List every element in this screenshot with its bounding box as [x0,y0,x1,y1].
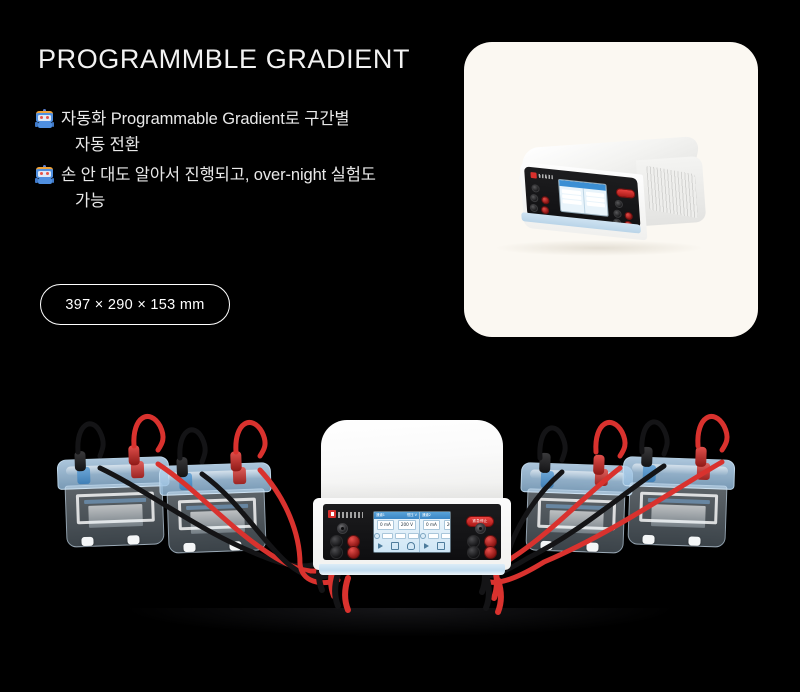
robot-icon [33,164,56,187]
channel-readouts: 0 mA 200 V [374,519,419,531]
ground-socket-right[interactable] [475,523,486,534]
slide-root: PROGRAMMBLE GRADIENT 자동화 Programmable Gr… [0,0,800,692]
play-icon[interactable] [378,543,383,549]
ground-socket-left[interactable] [337,523,348,534]
jack-positive-2[interactable] [347,546,360,559]
hero-jack-black-1 [530,194,539,203]
timer-readout [374,531,419,540]
bullet-text: 자동화 Programmable Gradient로 구간별 자동 전환 [61,106,350,158]
channel-readouts: 0 mA 200 V [420,519,451,531]
channel-mode-left: 通道2 [422,512,431,519]
bullet-line-2: 가능 [61,188,376,214]
channel-panel-2[interactable]: 通道2 恒压 V 0 mA 200 V [420,512,451,552]
hero-power-supply [513,135,715,248]
bullet-text: 손 안 대도 알아서 진행되고, over-night 실험도 가능 [61,162,376,214]
lcd-display: 通道1 恒压 V 0 mA 200 V [373,511,451,553]
base-strip [319,564,505,575]
hero-jack-red-3 [624,212,633,221]
list-item: 손 안 대도 알아서 진행되고, over-night 실험도 가능 [33,162,443,214]
jack-positive-4[interactable] [484,546,497,559]
bullet-line-1: 손 안 대도 알아서 진행되고, over-night 실험도 [61,166,376,184]
stop-icon[interactable] [437,542,445,550]
current-readout: 0 mA [377,520,394,530]
channel-header: 通道2 恒压 V [420,512,451,519]
jack-negative-4[interactable] [467,546,480,559]
power-supply-unit: 通道1 恒压 V 0 mA 200 V [313,420,511,580]
clock-icon [420,533,426,539]
channel-controls[interactable] [374,540,419,552]
channel-mode-right: 恒压 V [407,512,417,519]
control-panel: 通道1 恒压 V 0 mA 200 V [323,504,501,560]
hero-lcd-screen [558,179,609,217]
list-item: 자동화 Programmable Gradient로 구간별 자동 전환 [33,106,443,158]
channel-controls[interactable] [420,540,451,552]
dimension-badge: 397 × 290 × 153 mm [40,284,230,325]
brand-logo [530,172,553,180]
hero-jack-red-2 [541,206,550,215]
hero-stop-button [616,188,636,199]
channel-header: 通道1 恒压 V [374,512,419,519]
channel-mode-left: 通道1 [376,512,385,519]
lamp-icon[interactable] [407,542,415,550]
hero-jack-red-1 [541,196,550,205]
voltage-readout: 200 V [444,520,451,530]
jack-negative-2[interactable] [330,546,343,559]
play-icon[interactable] [424,543,429,549]
hero-jack-round-2 [615,200,624,209]
page-title: PROGRAMMBLE GRADIENT [38,44,410,75]
system-scene: 通道1 恒压 V 0 mA 200 V [0,372,800,692]
brand-logo [328,510,364,519]
vent-grille [646,166,698,218]
device-top-shell [321,420,503,504]
dimension-label: 397 × 290 × 153 mm [65,297,204,313]
bullet-line-1: 자동화 Programmable Gradient로 구간별 [61,110,350,128]
robot-icon [33,108,56,131]
bullet-line-2: 자동 전환 [61,132,350,158]
hero-jack-round [531,184,540,193]
feature-bullet-list: 자동화 Programmable Gradient로 구간별 자동 전환 손 [33,106,443,218]
hero-jack-black-3 [613,209,622,218]
hero-jack-black-2 [530,204,539,213]
clock-icon [374,533,380,539]
timer-readout [420,531,451,540]
product-photo-card [464,42,758,337]
stop-icon[interactable] [391,542,399,550]
channel-panel-1[interactable]: 通道1 恒压 V 0 mA 200 V [374,512,420,552]
voltage-readout: 200 V [398,520,416,530]
current-readout: 0 mA [423,520,440,530]
